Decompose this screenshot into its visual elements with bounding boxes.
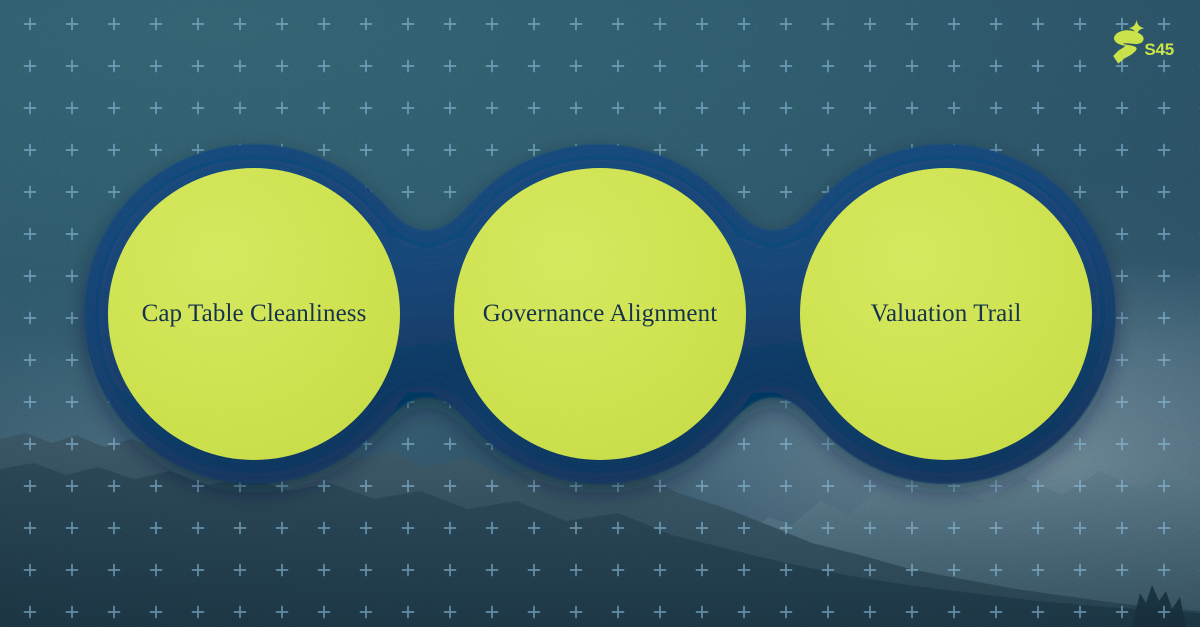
pillar-label: Governance Alignment — [459, 299, 742, 329]
brand-wordmark: S45 — [1144, 40, 1174, 60]
pillar-governance-alignment[interactable]: Governance Alignment — [454, 168, 746, 460]
pillar-cap-table-cleanliness[interactable]: Cap Table Cleanliness — [108, 168, 400, 460]
pillar-label: Cap Table Cleanliness — [118, 299, 391, 329]
circle-labels: Cap Table Cleanliness Governance Alignme… — [0, 0, 1200, 627]
pillar-valuation-trail[interactable]: Valuation Trail — [800, 168, 1092, 460]
pillar-label: Valuation Trail — [847, 299, 1046, 329]
slide-canvas: Cap Table Cleanliness Governance Alignme… — [0, 0, 1200, 627]
brand-logo[interactable]: S45 — [1108, 18, 1174, 64]
